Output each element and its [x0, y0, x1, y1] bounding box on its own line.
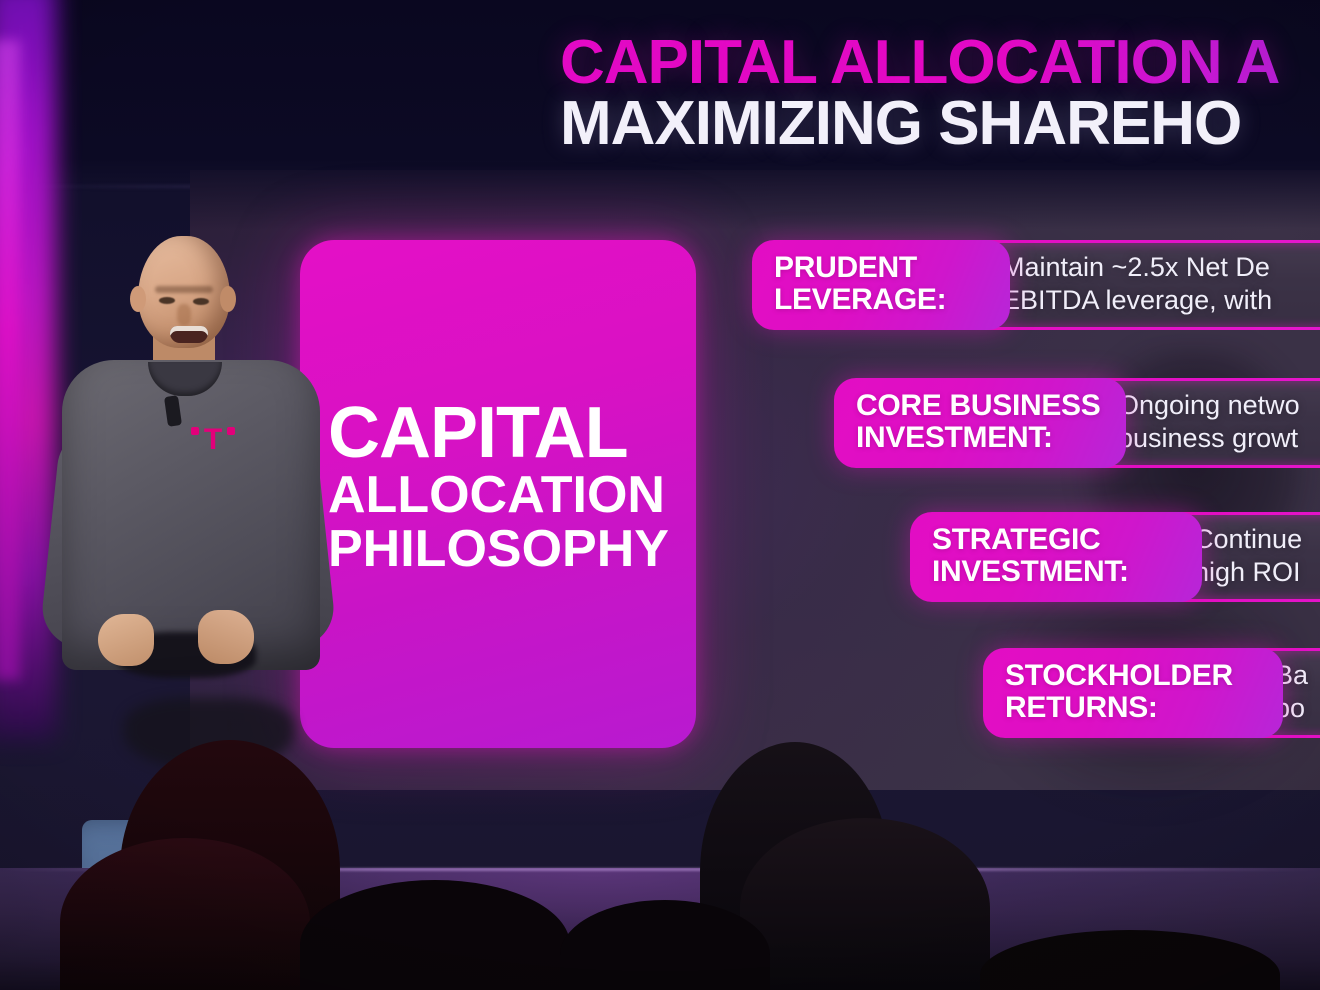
presenter-nose: [177, 304, 191, 326]
pillar-label-line-2: LEVERAGE:: [774, 284, 988, 316]
pillar-row: STOCKHOLDER RETURNS: Ba po: [983, 648, 1320, 738]
slide-title: CAPITAL ALLOCATION A MAXIMIZING SHAREHO: [560, 34, 1320, 152]
presenter-brow: [155, 286, 213, 293]
presenter-right-hand: [198, 610, 254, 664]
pillar-label-prudent-leverage: PRUDENT LEVERAGE:: [752, 240, 1010, 330]
pillar-label-line-2: INVESTMENT:: [932, 556, 1180, 588]
pillar-label-stockholder-returns: STOCKHOLDER RETURNS:: [983, 648, 1283, 738]
pillar-label-line-2: RETURNS:: [1005, 692, 1261, 724]
slide-title-line-1: CAPITAL ALLOCATION A: [560, 34, 1320, 91]
screen-top-shading: [190, 170, 1320, 230]
pillar-row: PRUDENT LEVERAGE: Maintain ~2.5x Net De …: [752, 240, 1320, 330]
slide-title-line-2: MAXIMIZING SHAREHO: [560, 95, 1320, 152]
pillar-label-line-1: PRUDENT: [774, 252, 988, 284]
presenter-torso: [62, 360, 320, 670]
pillar-body-line-1: Ongoing netwo: [1118, 389, 1320, 422]
hero-card-line-3: PHILOSOPHY: [328, 523, 668, 575]
pillar-row: STRATEGIC INVESTMENT: Continue high ROI: [910, 512, 1320, 602]
presenter-left-eye: [159, 297, 175, 304]
pillar-label-line-1: STRATEGIC: [932, 524, 1180, 556]
capital-allocation-philosophy-card: CAPITAL ALLOCATION PHILOSOPHY: [300, 240, 696, 748]
hero-card-line-2: ALLOCATION: [328, 469, 668, 521]
pillar-body-line-1: Continue: [1194, 523, 1320, 556]
left-stage-light-core: [0, 40, 20, 680]
audience-silhouette: [740, 818, 990, 990]
pillar-label-strategic-investment: STRATEGIC INVESTMENT:: [910, 512, 1202, 602]
pillar-body-line-2: business growt: [1118, 422, 1320, 455]
presenter-right-eye: [193, 298, 209, 305]
pillar-body-line-2: EBITDA leverage, with: [1002, 284, 1320, 317]
presenter-mouth: [170, 326, 208, 343]
pillar-label-line-2: INVESTMENT:: [856, 422, 1104, 454]
pillar-row: CORE BUSINESS INVESTMENT: Ongoing netwo …: [834, 378, 1320, 468]
pillar-body-line-2: high ROI: [1194, 556, 1320, 589]
pillar-label-line-1: CORE BUSINESS: [856, 390, 1104, 422]
pillar-body-core-business-investment: Ongoing netwo business growt: [1100, 378, 1320, 468]
hero-card-line-1: CAPITAL: [328, 399, 668, 467]
tmobile-t-logo: T: [198, 426, 228, 456]
presentation-stage-photo: CAPITAL ALLOCATION A MAXIMIZING SHAREHO …: [0, 0, 1320, 990]
presenter-right-ear: [220, 286, 236, 312]
pillar-label-line-1: STOCKHOLDER: [1005, 660, 1261, 692]
pillar-body-prudent-leverage: Maintain ~2.5x Net De EBITDA leverage, w…: [984, 240, 1320, 330]
pillar-label-core-business-investment: CORE BUSINESS INVESTMENT:: [834, 378, 1126, 468]
presenter-left-hand: [98, 614, 154, 666]
presenter-left-ear: [130, 286, 146, 312]
pillar-body-line-1: Maintain ~2.5x Net De: [1002, 251, 1320, 284]
